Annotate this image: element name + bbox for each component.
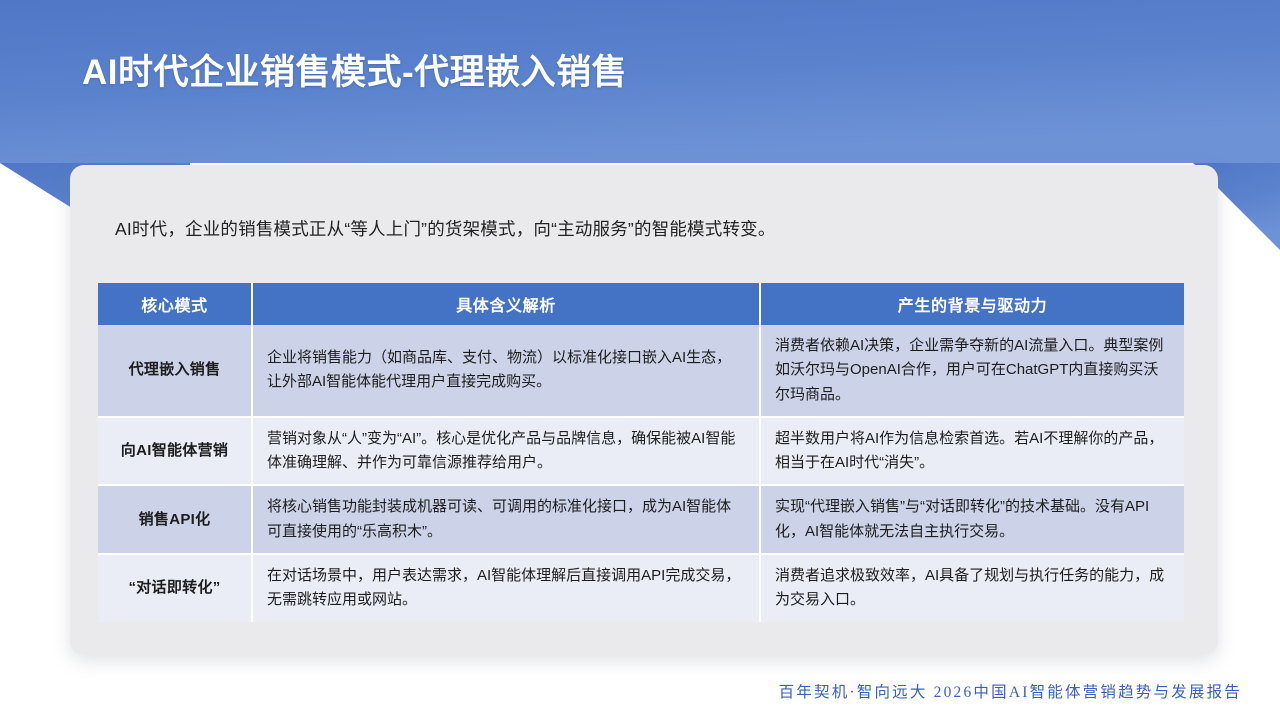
table-header-row: 核心模式 具体含义解析 产生的背景与驱动力	[98, 283, 1184, 325]
cell-mode: “对话即转化”	[98, 555, 253, 622]
cell-mode: 向AI智能体营销	[98, 418, 253, 487]
cell-mode: 销售API化	[98, 486, 253, 555]
page-title: AI时代企业销售模式-代理嵌入销售	[82, 44, 627, 95]
column-header-background: 产生的背景与驱动力	[761, 283, 1184, 325]
footer-note: 百年契机·智向远大 2026中国AI智能体营销趋势与发展报告	[779, 680, 1242, 702]
table-row: 代理嵌入销售 企业将销售能力（如商品库、支付、物流）以标准化接口嵌入AI生态，让…	[98, 325, 1184, 418]
sales-mode-table: 核心模式 具体含义解析 产生的背景与驱动力 代理嵌入销售 企业将销售能力（如商品…	[98, 283, 1184, 622]
cell-background: 超半数用户将AI作为信息检索首选。若AI不理解你的产品，相当于在AI时代“消失”…	[761, 418, 1184, 487]
cell-background: 实现“代理嵌入销售”与“对话即转化”的技术基础。没有API化，AI智能体就无法自…	[761, 486, 1184, 555]
cell-meaning: 企业将销售能力（如商品库、支付、物流）以标准化接口嵌入AI生态，让外部AI智能体…	[253, 325, 761, 418]
table-row: “对话即转化” 在对话场景中，用户表达需求，AI智能体理解后直接调用API完成交…	[98, 555, 1184, 622]
content-card: AI时代，企业的销售模式正从“等人上门”的货架模式，向“主动服务”的智能模式转变…	[70, 165, 1218, 655]
cell-mode: 代理嵌入销售	[98, 325, 253, 418]
cell-background: 消费者追求极致效率，AI具备了规划与执行任务的能力，成为交易入口。	[761, 555, 1184, 622]
column-header-meaning: 具体含义解析	[253, 283, 761, 325]
cell-meaning: 在对话场景中，用户表达需求，AI智能体理解后直接调用API完成交易，无需跳转应用…	[253, 555, 761, 622]
intro-paragraph: AI时代，企业的销售模式正从“等人上门”的货架模式，向“主动服务”的智能模式转变…	[115, 215, 1165, 243]
column-header-mode: 核心模式	[98, 283, 253, 325]
cell-meaning: 营销对象从“人”变为“AI”。核心是优化产品与品牌信息，确保能被AI智能体准确理…	[253, 418, 761, 487]
table-row: 销售API化 将核心销售功能封装成机器可读、可调用的标准化接口，成为AI智能体可…	[98, 486, 1184, 555]
cell-background: 消费者依赖AI决策，企业需争夺新的AI流量入口。典型案例如沃尔玛与OpenAI合…	[761, 325, 1184, 418]
cell-meaning: 将核心销售功能封装成机器可读、可调用的标准化接口，成为AI智能体可直接使用的“乐…	[253, 486, 761, 555]
table-row: 向AI智能体营销 营销对象从“人”变为“AI”。核心是优化产品与品牌信息，确保能…	[98, 418, 1184, 487]
